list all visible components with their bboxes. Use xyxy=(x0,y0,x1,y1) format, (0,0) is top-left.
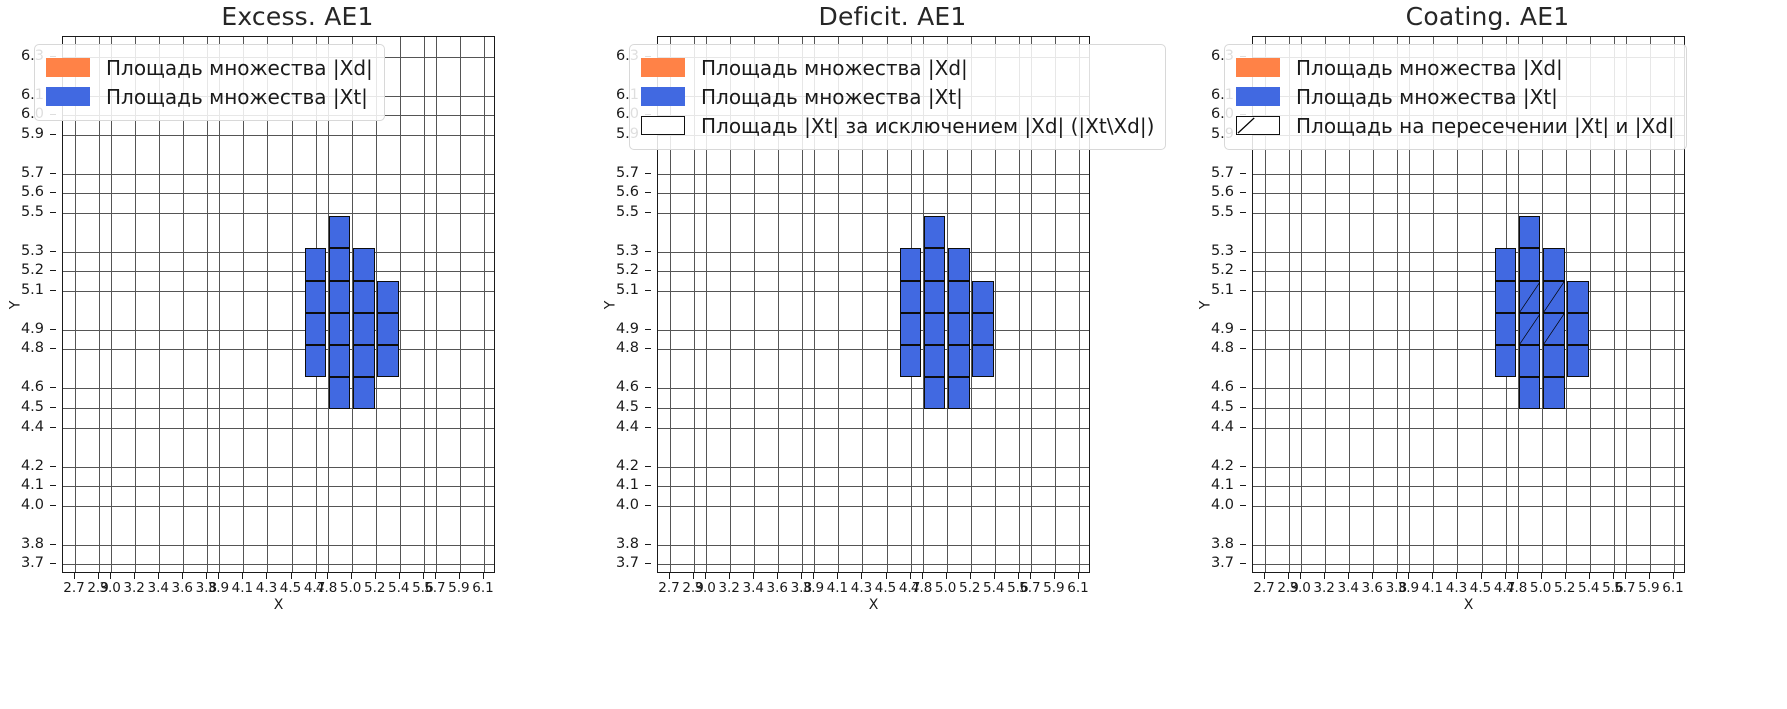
y-tick-mark xyxy=(1240,427,1246,428)
y-tick-mark xyxy=(50,466,56,467)
grid-line-horizontal xyxy=(1253,506,1684,507)
cell-xt xyxy=(900,248,922,280)
cell-xt xyxy=(1543,377,1565,409)
cell-xt xyxy=(329,345,351,377)
y-tick-mark xyxy=(1240,485,1246,486)
y-tick-mark xyxy=(1240,544,1246,545)
x-tick-mark xyxy=(1565,573,1566,579)
x-tick-label: 5.9 xyxy=(1043,580,1064,596)
grid-line-horizontal xyxy=(658,545,1089,546)
grid-line-horizontal xyxy=(658,174,1089,175)
legend-swatch-intersection xyxy=(1236,116,1280,135)
grid-line-horizontal xyxy=(658,291,1089,292)
grid-line-horizontal xyxy=(1253,564,1684,565)
grid-line-vertical xyxy=(460,37,461,572)
y-tick-mark xyxy=(50,407,56,408)
y-tick-label: 4.2 xyxy=(616,458,639,474)
grid-line-horizontal xyxy=(63,388,494,389)
x-tick-mark xyxy=(910,573,911,579)
x-tick-label: 3.2 xyxy=(1313,580,1334,596)
x-tick-label: 3.9 xyxy=(208,580,229,596)
grid-line-horizontal xyxy=(658,349,1089,350)
x-tick-mark xyxy=(886,573,887,579)
grid-line-horizontal xyxy=(658,506,1089,507)
x-tick-label: 4.5 xyxy=(280,580,301,596)
y-tick-label: 3.7 xyxy=(21,555,44,571)
x-tick-mark xyxy=(1018,573,1019,579)
y-tick-mark xyxy=(645,407,651,408)
grid-line-horizontal xyxy=(1253,213,1684,214)
grid-line-horizontal xyxy=(63,174,494,175)
x-tick-label: 3.0 xyxy=(99,580,120,596)
x-tick-label: 3.6 xyxy=(1362,580,1383,596)
grid-line-horizontal xyxy=(63,291,494,292)
cell-xt xyxy=(1519,216,1541,248)
x-tick-mark xyxy=(435,573,436,579)
x-tick-mark xyxy=(483,573,484,579)
cell-xt xyxy=(972,281,994,313)
y-tick-mark xyxy=(645,251,651,252)
cell-xt xyxy=(1567,281,1589,313)
cell-xt xyxy=(972,313,994,345)
grid-line-horizontal xyxy=(63,135,494,136)
cell-xt xyxy=(329,216,351,248)
y-tick-label: 4.4 xyxy=(1211,419,1234,435)
grid-line-vertical xyxy=(484,37,485,572)
x-tick-label: 5.7 xyxy=(1614,580,1635,596)
x-tick-label: 6.1 xyxy=(1067,580,1088,596)
cell-xt xyxy=(377,345,399,377)
y-tick-mark xyxy=(50,544,56,545)
x-tick-label: 3.4 xyxy=(742,580,763,596)
y-tick-mark xyxy=(50,485,56,486)
x-tick-label: 5.4 xyxy=(983,580,1004,596)
grid-line-horizontal xyxy=(658,408,1089,409)
y-tick-label: 4.9 xyxy=(1211,321,1234,337)
cell-xt xyxy=(353,248,375,280)
grid-line-horizontal xyxy=(658,467,1089,468)
x-tick-mark xyxy=(861,573,862,579)
x-tick-mark xyxy=(1649,573,1650,579)
grid-line-vertical xyxy=(400,37,401,572)
cell-xt xyxy=(377,281,399,313)
legend-label-xd: Площадь множества |Xd| xyxy=(106,58,373,78)
x-tick-mark xyxy=(158,573,159,579)
x-tick-mark xyxy=(1456,573,1457,579)
cell-xt xyxy=(948,345,970,377)
y-tick-mark xyxy=(1240,466,1246,467)
legend-item-xd: Площадь множества |Xd| xyxy=(641,53,1154,82)
cell-xt xyxy=(1519,345,1541,377)
y-tick-mark xyxy=(1240,348,1246,349)
cell-xt xyxy=(353,377,375,409)
legend-swatch-xt xyxy=(46,87,90,106)
cell-xt xyxy=(305,281,327,313)
y-tick-mark xyxy=(50,270,56,271)
legend-label-xt: Площадь множества |Xt| xyxy=(106,87,368,107)
legend: Площадь множества |Xd|Площадь множества … xyxy=(629,44,1166,150)
y-tick-mark xyxy=(1240,212,1246,213)
x-tick-mark xyxy=(110,573,111,579)
x-tick-label: 3.4 xyxy=(147,580,168,596)
x-tick-mark xyxy=(266,573,267,579)
legend-swatch-xt xyxy=(1236,87,1280,106)
x-tick-label: 3.6 xyxy=(767,580,788,596)
y-tick-label: 4.6 xyxy=(616,379,639,395)
y-tick-label: 5.3 xyxy=(1211,243,1234,259)
cell-xt xyxy=(305,345,327,377)
cell-xt xyxy=(948,313,970,345)
legend-label-xd: Площадь множества |Xd| xyxy=(1296,58,1563,78)
legend-swatch-xt_minus_xd xyxy=(641,116,685,135)
grid-line-horizontal xyxy=(63,467,494,468)
y-tick-label: 4.5 xyxy=(616,399,639,415)
y-tick-mark xyxy=(645,212,651,213)
y-tick-label: 4.4 xyxy=(21,419,44,435)
y-tick-mark xyxy=(645,563,651,564)
panel-3: Coating. AE1YПлощадь множества |Xd|Площа… xyxy=(1190,0,1785,709)
y-tick-label: 3.8 xyxy=(1211,536,1234,552)
cell-xt xyxy=(900,313,922,345)
grid-line-horizontal xyxy=(63,428,494,429)
legend-item-intersection: Площадь на пересечении |Xt| и |Xd| xyxy=(1236,111,1675,140)
x-tick-label: 5.2 xyxy=(959,580,980,596)
x-tick-mark xyxy=(1505,573,1506,579)
y-tick-label: 5.5 xyxy=(21,204,44,220)
grid-line-horizontal xyxy=(658,213,1089,214)
y-tick-mark xyxy=(645,466,651,467)
x-tick-mark xyxy=(327,573,328,579)
y-tick-label: 5.9 xyxy=(21,126,44,142)
x-tick-mark xyxy=(1673,573,1674,579)
y-tick-label: 5.2 xyxy=(616,262,639,278)
y-tick-label: 4.1 xyxy=(616,477,639,493)
x-tick-mark xyxy=(1300,573,1301,579)
grid-line-horizontal xyxy=(1253,349,1684,350)
x-tick-label: 3.4 xyxy=(1337,580,1358,596)
x-tick-mark xyxy=(399,573,400,579)
x-tick-label: 4.1 xyxy=(232,580,253,596)
y-tick-label: 4.2 xyxy=(21,458,44,474)
x-tick-label: 4.3 xyxy=(256,580,277,596)
x-tick-label: 5.0 xyxy=(1530,580,1551,596)
y-tick-mark xyxy=(1240,251,1246,252)
cell-xt xyxy=(1519,377,1541,409)
y-tick-mark xyxy=(645,427,651,428)
cell-xt xyxy=(305,313,327,345)
grid-line-horizontal xyxy=(63,193,494,194)
x-tick-mark xyxy=(693,573,694,579)
x-tick-label: 2.7 xyxy=(1253,580,1274,596)
grid-line-horizontal xyxy=(63,330,494,331)
cell-intersection xyxy=(1543,281,1565,313)
y-tick-label: 4.0 xyxy=(1211,497,1234,513)
x-tick-label: 4.1 xyxy=(827,580,848,596)
x-tick-label: 5.4 xyxy=(388,580,409,596)
x-tick-label: 4.8 xyxy=(1506,580,1527,596)
cell-xt xyxy=(1543,248,1565,280)
grid-line-horizontal xyxy=(63,349,494,350)
cell-xt xyxy=(353,281,375,313)
y-tick-mark xyxy=(1240,173,1246,174)
x-tick-mark xyxy=(1432,573,1433,579)
y-tick-mark xyxy=(1240,329,1246,330)
x-tick-mark xyxy=(459,573,460,579)
legend-item-xt_minus_xd: Площадь |Xt| за исключением |Xd| (|Xt\Xd… xyxy=(641,111,1154,140)
y-tick-mark xyxy=(50,348,56,349)
x-tick-label: 3.0 xyxy=(694,580,715,596)
x-tick-label: 4.5 xyxy=(875,580,896,596)
grid-line-horizontal xyxy=(658,252,1089,253)
legend-item-xt: Площадь множества |Xt| xyxy=(46,82,373,111)
y-tick-label: 4.9 xyxy=(616,321,639,337)
x-tick-label: 3.2 xyxy=(718,580,739,596)
cell-xt xyxy=(377,313,399,345)
cell-xt xyxy=(924,377,946,409)
cell-xt xyxy=(305,248,327,280)
y-tick-label: 4.4 xyxy=(616,419,639,435)
x-tick-label: 6.1 xyxy=(472,580,493,596)
x-tick-mark xyxy=(801,573,802,579)
y-tick-mark xyxy=(50,212,56,213)
y-tick-mark xyxy=(645,192,651,193)
y-tick-label: 5.6 xyxy=(21,184,44,200)
x-tick-mark xyxy=(1541,573,1542,579)
y-tick-label: 3.8 xyxy=(21,536,44,552)
legend-label-xt_minus_xd: Площадь |Xt| за исключением |Xd| (|Xt\Xd… xyxy=(701,116,1154,136)
x-tick-mark xyxy=(970,573,971,579)
cell-xt xyxy=(900,281,922,313)
x-tick-mark xyxy=(1288,573,1289,579)
x-tick-label: 3.9 xyxy=(803,580,824,596)
grid-line-horizontal xyxy=(63,252,494,253)
legend-label-intersection: Площадь на пересечении |Xt| и |Xd| xyxy=(1296,116,1675,136)
grid-line-vertical xyxy=(436,37,437,572)
grid-line-horizontal xyxy=(658,330,1089,331)
cell-xt xyxy=(1543,345,1565,377)
y-tick-label: 5.5 xyxy=(616,204,639,220)
y-tick-mark xyxy=(645,387,651,388)
x-tick-mark xyxy=(705,573,706,579)
y-tick-mark xyxy=(645,173,651,174)
x-tick-label: 5.9 xyxy=(448,580,469,596)
cell-xt xyxy=(924,281,946,313)
y-tick-mark xyxy=(645,348,651,349)
grid-line-horizontal xyxy=(1253,174,1684,175)
legend-swatch-xd xyxy=(46,58,90,77)
y-tick-mark xyxy=(1240,192,1246,193)
y-tick-mark xyxy=(645,290,651,291)
x-tick-mark xyxy=(669,573,670,579)
y-tick-label: 5.1 xyxy=(616,282,639,298)
y-tick-label: 4.9 xyxy=(21,321,44,337)
x-tick-label: 5.0 xyxy=(935,580,956,596)
cell-xt xyxy=(924,216,946,248)
cell-xt xyxy=(1495,281,1517,313)
x-tick-label: 4.3 xyxy=(1446,580,1467,596)
x-tick-mark xyxy=(777,573,778,579)
x-tick-mark xyxy=(994,573,995,579)
cell-xt xyxy=(329,248,351,280)
cell-intersection xyxy=(1543,313,1565,345)
legend: Площадь множества |Xd|Площадь множества … xyxy=(1224,44,1687,150)
grid-line-horizontal xyxy=(658,428,1089,429)
x-tick-label: 3.6 xyxy=(172,580,193,596)
legend-item-xt: Площадь множества |Xt| xyxy=(641,82,1154,111)
x-tick-mark xyxy=(1348,573,1349,579)
y-tick-label: 5.1 xyxy=(1211,282,1234,298)
y-tick-label: 5.3 xyxy=(21,243,44,259)
x-tick-mark xyxy=(98,573,99,579)
x-tick-mark xyxy=(423,573,424,579)
grid-line-horizontal xyxy=(1253,486,1684,487)
x-tick-label: 5.2 xyxy=(1554,580,1575,596)
cell-xt xyxy=(924,313,946,345)
x-tick-mark xyxy=(1517,573,1518,579)
grid-line-horizontal xyxy=(1253,545,1684,546)
x-tick-mark xyxy=(351,573,352,579)
y-tick-mark xyxy=(645,505,651,506)
y-tick-label: 4.1 xyxy=(1211,477,1234,493)
y-tick-label: 5.7 xyxy=(1211,165,1234,181)
y-tick-mark xyxy=(50,329,56,330)
legend-swatch-xd xyxy=(1236,58,1280,77)
y-tick-mark xyxy=(50,563,56,564)
y-tick-mark xyxy=(50,192,56,193)
grid-line-horizontal xyxy=(1253,271,1684,272)
y-tick-mark xyxy=(1240,387,1246,388)
y-tick-mark xyxy=(645,485,651,486)
x-tick-mark xyxy=(1030,573,1031,579)
cell-xt xyxy=(353,345,375,377)
y-tick-mark xyxy=(1240,563,1246,564)
panel-title: Coating. AE1 xyxy=(1190,2,1785,31)
x-tick-mark xyxy=(134,573,135,579)
y-tick-label: 5.7 xyxy=(21,165,44,181)
x-tick-mark xyxy=(1078,573,1079,579)
x-tick-mark xyxy=(74,573,75,579)
y-tick-mark xyxy=(50,134,56,135)
y-tick-mark xyxy=(50,387,56,388)
x-tick-label: 4.8 xyxy=(316,580,337,596)
panel-title: Deficit. AE1 xyxy=(595,2,1190,31)
x-tick-mark xyxy=(206,573,207,579)
cell-xt xyxy=(1519,248,1541,280)
x-tick-mark xyxy=(1589,573,1590,579)
legend-item-xd: Площадь множества |Xd| xyxy=(1236,53,1675,82)
y-tick-label: 3.7 xyxy=(1211,555,1234,571)
y-tick-label: 4.5 xyxy=(21,399,44,415)
x-tick-mark xyxy=(182,573,183,579)
x-tick-mark xyxy=(1264,573,1265,579)
y-tick-mark xyxy=(1240,290,1246,291)
x-axis-label: X xyxy=(62,597,495,613)
cell-xt xyxy=(948,248,970,280)
y-tick-label: 5.6 xyxy=(1211,184,1234,200)
x-tick-mark xyxy=(922,573,923,579)
y-tick-mark xyxy=(50,251,56,252)
grid-line-horizontal xyxy=(63,213,494,214)
grid-line-horizontal xyxy=(1253,252,1684,253)
x-tick-mark xyxy=(1372,573,1373,579)
y-tick-label: 4.8 xyxy=(21,340,44,356)
legend-label-xt: Площадь множества |Xt| xyxy=(701,87,963,107)
legend-item-xt: Площадь множества |Xt| xyxy=(1236,82,1675,111)
grid-line-horizontal xyxy=(658,193,1089,194)
cell-xt xyxy=(924,345,946,377)
legend-swatch-xt xyxy=(641,87,685,106)
legend-item-xd: Площадь множества |Xd| xyxy=(46,53,373,82)
legend-swatch-xd xyxy=(641,58,685,77)
y-tick-mark xyxy=(50,290,56,291)
y-tick-label: 4.2 xyxy=(1211,458,1234,474)
legend: Площадь множества |Xd|Площадь множества … xyxy=(34,44,385,121)
x-axis-label: X xyxy=(657,597,1090,613)
x-tick-mark xyxy=(242,573,243,579)
cell-intersection xyxy=(1519,281,1541,313)
x-tick-label: 4.5 xyxy=(1470,580,1491,596)
grid-line-vertical xyxy=(424,37,425,572)
y-tick-label: 4.8 xyxy=(616,340,639,356)
y-tick-label: 3.7 xyxy=(616,555,639,571)
x-tick-label: 2.7 xyxy=(63,580,84,596)
y-tick-label: 5.1 xyxy=(21,282,44,298)
x-tick-mark xyxy=(315,573,316,579)
y-tick-label: 5.2 xyxy=(21,262,44,278)
y-tick-mark xyxy=(50,505,56,506)
y-tick-label: 3.8 xyxy=(616,536,639,552)
y-tick-label: 4.8 xyxy=(1211,340,1234,356)
cell-xt xyxy=(1495,345,1517,377)
figure-canvas: Excess. AE1YПлощадь множества |Xd|Площад… xyxy=(0,0,1787,709)
x-tick-mark xyxy=(1481,573,1482,579)
cell-xt xyxy=(924,248,946,280)
y-tick-label: 5.7 xyxy=(616,165,639,181)
x-tick-label: 5.2 xyxy=(364,580,385,596)
panel-2: Deficit. AE1YПлощадь множества |Xd|Площа… xyxy=(595,0,1190,709)
y-tick-label: 4.6 xyxy=(21,379,44,395)
grid-line-horizontal xyxy=(1253,467,1684,468)
x-tick-mark xyxy=(1054,573,1055,579)
y-tick-label: 4.6 xyxy=(1211,379,1234,395)
cell-xt xyxy=(329,313,351,345)
grid-line-horizontal xyxy=(63,506,494,507)
grid-line-horizontal xyxy=(658,388,1089,389)
grid-line-horizontal xyxy=(63,486,494,487)
x-tick-mark xyxy=(837,573,838,579)
x-tick-label: 5.9 xyxy=(1638,580,1659,596)
panel-1: Excess. AE1YПлощадь множества |Xd|Площад… xyxy=(0,0,595,709)
grid-line-horizontal xyxy=(63,408,494,409)
x-tick-label: 6.1 xyxy=(1662,580,1683,596)
grid-line-horizontal xyxy=(1253,388,1684,389)
x-tick-label: 3.2 xyxy=(123,580,144,596)
x-tick-mark xyxy=(946,573,947,579)
y-tick-mark xyxy=(1240,407,1246,408)
grid-line-horizontal xyxy=(1253,330,1684,331)
y-tick-label: 4.0 xyxy=(616,497,639,513)
y-tick-label: 5.6 xyxy=(616,184,639,200)
y-tick-mark xyxy=(645,329,651,330)
x-tick-mark xyxy=(218,573,219,579)
y-tick-mark xyxy=(645,270,651,271)
y-tick-label: 4.1 xyxy=(21,477,44,493)
grid-line-horizontal xyxy=(658,564,1089,565)
x-tick-label: 4.8 xyxy=(911,580,932,596)
y-tick-label: 4.0 xyxy=(21,497,44,513)
x-tick-label: 4.1 xyxy=(1422,580,1443,596)
x-tick-label: 4.3 xyxy=(851,580,872,596)
